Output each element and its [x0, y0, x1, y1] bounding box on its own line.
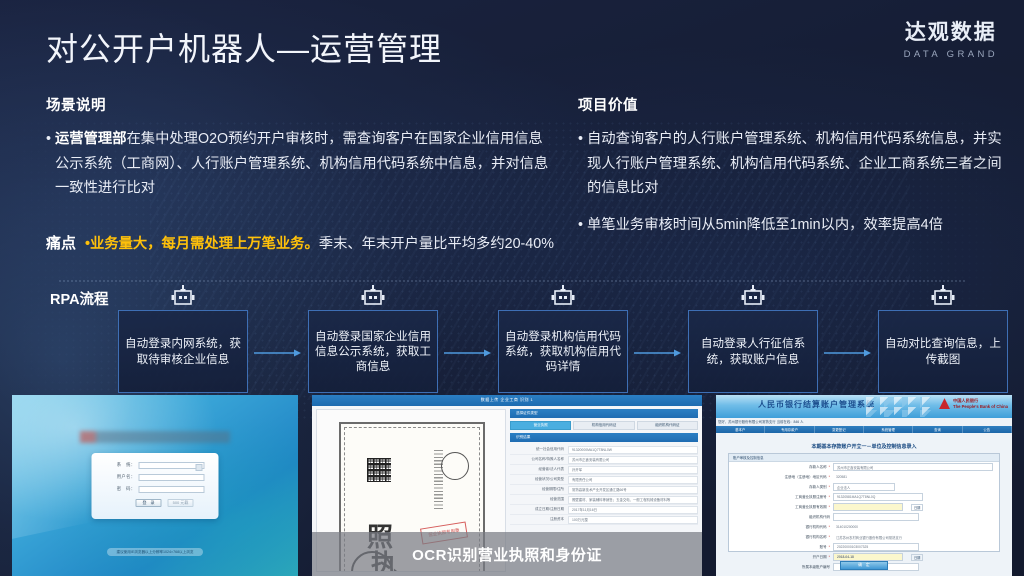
required-marker: * — [829, 485, 830, 489]
pboc-bank-logo: 中国人民银行 The People's Bank of China — [939, 398, 1008, 409]
flow-arrow-4 — [818, 310, 878, 395]
pboc-field-value[interactable] — [833, 503, 903, 511]
scenario-bullet-text: 运营管理部在集中处理O2O预约开户审核时，需查询客户在国家企业信用信息公示系统（… — [55, 127, 554, 201]
value-bullet-2-text: 单笔业务审核时间从5min降低至1min以内，效率提高4倍 — [587, 213, 1010, 238]
ocr-doc-type-header: 选择证件类型 — [510, 409, 698, 418]
login-footer-note: 建议使用IE浏览器以上分辨率1024×768以上浏览 — [107, 548, 203, 556]
pboc-form-panel: 账户审核及控制信息 存款人名称* 苏州市正鑫安装有限公司 注册地（注册地）地区代… — [728, 453, 1000, 552]
ocr-field-row[interactable]: 经营范围 照壁建材、家装辅料等销售；五金交电、一般工程机械设备材料等 — [510, 495, 698, 505]
scenario-heading: 场景说明 — [46, 94, 554, 115]
screenshot-strip: 系 统： 用户名： 密 码： 登 录 500 元载 建议使用IE浏览器以上分辨率… — [0, 395, 1024, 576]
ocr-field-row[interactable]: 注册资本 100万元整 — [510, 515, 698, 525]
ocr-field-value[interactable]: 91320000MA1Q7T8NL0W — [568, 446, 698, 454]
required-marker: * — [829, 525, 830, 529]
required-marker: * — [829, 465, 830, 469]
pboc-date-picker-button[interactable]: 日期 — [911, 504, 923, 511]
scenario-bullet-strong: 运营管理部 — [55, 131, 126, 147]
flow-node-1-label: 自动登录内网系统，获取待审核企业信息 — [125, 336, 241, 367]
flow-node-2-label: 自动登录国家企业信用信息公示系统，获取工商信息 — [315, 329, 431, 375]
ocr-field-row[interactable]: 统一社会信用代码 91320000MA1Q7T8NL0W — [510, 445, 698, 455]
login-button-group: 登 录 500 元载 — [136, 499, 194, 507]
ocr-field-label: 成立日期/注册日期 — [510, 507, 568, 512]
robot-icon — [360, 285, 386, 312]
login-card: 系 统： 用户名： 密 码： 登 录 500 元载 — [92, 453, 219, 519]
login-field-password[interactable]: 密 码： — [106, 485, 205, 493]
pboc-nav-item-query[interactable]: 查询 — [913, 426, 962, 433]
pboc-submit-button[interactable]: 确 定 — [840, 561, 888, 570]
pboc-field-value: 314010200000 — [833, 523, 993, 531]
ocr-tab-org-code[interactable]: 组织机构代码证 — [637, 421, 698, 430]
flow-node-3-box[interactable]: 自动登录机构信用代码系统，获取机构信用代码详情 — [498, 310, 628, 393]
pboc-field-value[interactable] — [833, 513, 919, 521]
ocr-top-bar-label: 数据上传 企业工商 识别 1 — [481, 397, 534, 403]
ocr-field-value[interactable]: 苏州市正鑫安装有限公司 — [568, 456, 698, 464]
login-field-password-input[interactable] — [139, 486, 205, 493]
login-field-password-label: 密 码： — [106, 486, 139, 492]
pboc-date-picker-button[interactable]: 日期 — [911, 554, 923, 561]
flow-arrow-3 — [628, 310, 688, 395]
login-system-logo — [80, 431, 230, 443]
pboc-panel-header: 账户审核及控制信息 — [729, 454, 999, 462]
pboc-field-label: 工商营业执照注册号* — [729, 495, 833, 500]
ocr-field-label: 经营状况/公司类型 — [510, 477, 568, 482]
pboc-field-value[interactable]: 91320581MA1Q7T8NL0Q — [833, 493, 923, 501]
pboc-system-title: 人民币银行结算账户管理系统 — [758, 399, 875, 410]
pain-point-highlight: 业务量大，每月需处理上万笔业务。 — [90, 236, 319, 252]
ocr-field-row[interactable]: 经营者/法人代表 孙开军 — [510, 465, 698, 475]
required-marker: * — [829, 495, 830, 499]
pain-point-label: 痛点 — [46, 232, 76, 256]
screenshot-pboc-system[interactable]: 人民币银行结算账户管理系统 中国人民银行 The People's Bank o… — [716, 395, 1012, 576]
login-field-username[interactable]: 用户名： — [106, 473, 205, 481]
ocr-caption-text: OCR识别营业执照和身份证 — [412, 544, 602, 565]
scenario-bullet: • 运营管理部在集中处理O2O预约开户审核时，需查询客户在国家企业信用信息公示系… — [46, 127, 554, 201]
value-section: 项目价值 • 自动查询客户的人行账户管理系统、机构信用代码系统信息，并实现人行账… — [578, 94, 1010, 237]
ocr-field-value[interactable]: 2017年11月16日 — [568, 506, 698, 514]
flow-node-2[interactable]: 自动登录国家企业信用信息公示系统，获取工商信息 — [308, 310, 438, 395]
pain-point-text: •业务量大，每月需处理上万笔业务。季末、年末开户量比平均多约20-40% — [85, 232, 554, 256]
brand-logo-en: DATA GRAND — [904, 49, 998, 60]
pboc-field-value: 320581 — [833, 473, 993, 481]
dotted-divider — [58, 280, 966, 282]
robot-icon — [740, 285, 766, 312]
login-field-system-label: 系 统： — [106, 462, 139, 468]
pboc-field-label: 银行机构名称* — [729, 535, 833, 540]
required-marker: * — [829, 535, 830, 539]
pboc-nav-item-special[interactable]: 专用存款户 — [765, 426, 814, 433]
pboc-bank-logo-en: The People's Bank of China — [953, 404, 1008, 410]
pboc-field-label: 存款人名称* — [729, 465, 833, 470]
ocr-field-label: 经营者/法人代表 — [510, 467, 568, 472]
ocr-field-value[interactable]: 100万元整 — [568, 516, 698, 524]
brand-logo-cn: 达观数据 — [904, 16, 998, 46]
pboc-field-row[interactable]: 存款人名称* 苏州市正鑫安装有限公司 — [729, 462, 999, 472]
pboc-breadcrumb: 您好，苏州银行股份有限公司常熟支行 当前在线：846 人 — [718, 419, 804, 424]
flow-node-4-label: 自动登录人行征信系统，获取账户信息 — [695, 336, 811, 367]
ocr-field-label: 公司名称/特殊人名称 — [510, 457, 568, 462]
pboc-field-label: 银行机构代码* — [729, 525, 833, 530]
pboc-nav-item-system[interactable]: 系统管理 — [864, 426, 913, 433]
pboc-field-row[interactable]: 银行机构代码* 314010200000 — [729, 522, 999, 532]
ocr-field-row[interactable]: 公司名称/特殊人名称 苏州市正鑫安装有限公司 — [510, 455, 698, 465]
pboc-field-row[interactable]: 工商营业执照有效期* 日期 — [729, 502, 999, 512]
login-secondary-button[interactable]: 500 元载 — [168, 499, 194, 507]
ocr-tab-org-credit-code[interactable]: 机构信用代码证 — [573, 421, 634, 430]
ocr-doc-type-tabs: 营业执照 机构信用代码证 组织机构代码证 — [510, 421, 698, 430]
bullet-marker: • — [46, 127, 51, 201]
pboc-field-row[interactable]: 银行机构名称* 江苏苏州农村商业银行股份有限公司常熟支行 — [729, 532, 999, 542]
required-marker: * — [829, 475, 830, 479]
ocr-tab-business-license[interactable]: 营业执照 — [510, 421, 571, 430]
pboc-field-row[interactable]: 注册地（注册地）地区代码* 320581 — [729, 472, 999, 482]
pboc-field-label: 账号* — [729, 545, 833, 550]
flow-arrow-1 — [248, 310, 308, 395]
flow-node-2-box[interactable]: 自动登录国家企业信用信息公示系统，获取工商信息 — [308, 310, 438, 393]
pboc-bank-logo-text: 中国人民银行 The People's Bank of China — [953, 398, 1008, 409]
pboc-field-value: 江苏苏州农村商业银行股份有限公司常熟支行 — [833, 533, 993, 541]
pboc-field-row[interactable]: 工商营业执照注册号* 91320581MA1Q7T8NL0Q — [729, 492, 999, 502]
pboc-header: 人民币银行结算账户管理系统 中国人民银行 The People's Bank o… — [716, 395, 1012, 418]
flow-node-4[interactable]: 自动登录人行征信系统，获取账户信息 — [688, 310, 818, 395]
ocr-field-row[interactable]: 经营期限/住所 常熟高新技术产业开发区通江路66号 — [510, 485, 698, 495]
pboc-nav-bar: 基本户 专用存款户 变更登记 系统管理 查询 公告 — [716, 426, 1012, 433]
login-submit-button[interactable]: 登 录 — [136, 499, 162, 507]
ocr-top-bar: 数据上传 企业工商 识别 1 — [312, 395, 702, 406]
pain-point-section: 痛点 •业务量大，每月需处理上万笔业务。季末、年末开户量比平均多约20-40% — [46, 232, 566, 256]
ocr-result-header-label: 识别结果 — [516, 435, 530, 440]
flow-node-1[interactable]: 自动登录内网系统，获取待审核企业信息 — [118, 310, 248, 395]
flow-arrow-2 — [438, 310, 498, 395]
ocr-field-value[interactable]: 常熟高新技术产业开发区通江路66号 — [568, 486, 698, 494]
ocr-result-header: 识别结果 — [510, 433, 698, 442]
flow-node-3-label: 自动登录机构信用代码系统，获取机构信用代码详情 — [505, 329, 621, 375]
login-field-username-input[interactable] — [139, 474, 205, 481]
ocr-field-value[interactable]: 孙开军 — [568, 466, 698, 474]
required-marker: * — [829, 555, 830, 559]
pboc-form-title: 本期基本存款账户开立一－单位及控制信息录入 — [716, 443, 1012, 450]
pboc-nav-item-notice[interactable]: 公告 — [963, 426, 1012, 433]
pboc-field-row[interactable]: 账号* 20220000103007325 — [729, 542, 999, 552]
pboc-emblem-icon — [939, 398, 950, 409]
value-bullet-1-text: 自动查询客户的人行账户管理系统、机构信用代码系统信息，并实现人行账户管理系统、机… — [587, 127, 1010, 201]
pboc-nav-item-change[interactable]: 变更登记 — [815, 426, 864, 433]
license-round-emblem — [441, 452, 469, 480]
ocr-field-label: 统一社会信用代码 — [510, 447, 568, 452]
bullet-marker: • — [578, 127, 583, 201]
screenshot-ocr-license[interactable]: 数据上传 企业工商 识别 1 照 执 营业执照专用章 选择证件类型 营业执照 机… — [312, 395, 702, 576]
page-title: 对公开户机器人—运营管理 — [46, 24, 442, 70]
ocr-field-value[interactable]: 有限责任公司 — [568, 476, 698, 484]
pboc-field-value[interactable]: 苏州市正鑫安装有限公司 — [833, 463, 993, 471]
screenshot-intranet-login[interactable]: 系 统： 用户名： 密 码： 登 录 500 元载 建议使用IE浏览器以上分辨率… — [12, 395, 298, 576]
ocr-field-label: 经营范围 — [510, 497, 568, 502]
ocr-field-row[interactable]: 经营状况/公司类型 有限责任公司 — [510, 475, 698, 485]
brand-logo: 达观数据 DATA GRAND — [904, 16, 998, 60]
scenario-section: 场景说明 • 运营管理部在集中处理O2O预约开户审核时，需查询客户在国家企业信用… — [46, 94, 554, 201]
value-heading: 项目价值 — [578, 94, 1010, 115]
flow-node-5[interactable]: 自动对比查询信息，上传截图 — [878, 310, 1008, 395]
ocr-field-label: 经营期限/住所 — [510, 487, 568, 492]
pboc-field-label: 工商营业执照有效期* — [729, 505, 833, 510]
ocr-field-label: 注册资本 — [510, 517, 568, 522]
login-field-system-select[interactable] — [139, 462, 205, 469]
value-bullet-1: • 自动查询客户的人行账户管理系统、机构信用代码系统信息，并实现人行账户管理系统… — [578, 127, 1010, 201]
pboc-field-row[interactable]: 存款人类别* 企业法人 — [729, 482, 999, 492]
pboc-field-label: 所属本级账户编号 — [729, 565, 833, 570]
keyboard-graphic — [866, 397, 936, 417]
ocr-doc-type-header-label: 选择证件类型 — [516, 411, 538, 416]
pboc-field-label: 注册地（注册地）地区代码* — [729, 475, 833, 480]
flow-node-5-box[interactable]: 自动对比查询信息，上传截图 — [878, 310, 1008, 393]
pboc-field-label: 组织机构代码 — [729, 515, 833, 520]
pboc-field-row[interactable]: 组织机构代码 — [729, 512, 999, 522]
flow-node-5-label: 自动对比查询信息，上传截图 — [885, 336, 1001, 367]
scenario-bullet-rest: 在集中处理O2O预约开户审核时，需查询客户在国家企业信用信息公示系统（工商网）、… — [55, 131, 548, 196]
robot-icon — [550, 285, 576, 312]
pboc-field-value[interactable]: 2018-04-18 — [833, 553, 903, 561]
bullet-marker: • — [578, 213, 583, 238]
pboc-field-label: 存款人类别* — [729, 485, 833, 490]
pain-point-rest: 季末、年末开户量比平均多约20-40% — [319, 236, 554, 252]
rpa-flow-diagram: 自动登录内网系统，获取待审核企业信息 自动登录国家企业信用信息公示系统，获取工商… — [118, 310, 1008, 395]
pboc-nav-item-basic[interactable]: 基本户 — [716, 426, 765, 433]
flow-node-1-box[interactable]: 自动登录内网系统，获取待审核企业信息 — [118, 310, 248, 393]
flow-node-4-box[interactable]: 自动登录人行征信系统，获取账户信息 — [688, 310, 818, 393]
rpa-flow-label: RPA流程 — [50, 288, 109, 309]
pboc-field-value[interactable]: 20220000103007325 — [833, 543, 919, 551]
flow-node-3[interactable]: 自动登录机构信用代码系统，获取机构信用代码详情 — [498, 310, 628, 395]
login-field-system[interactable]: 系 统： — [106, 461, 205, 469]
pboc-field-select[interactable]: 企业法人 — [833, 483, 895, 491]
pboc-field-label: 开户日期* — [729, 555, 833, 560]
ocr-caption-overlay: OCR识别营业执照和身份证 — [312, 532, 702, 576]
robot-icon — [930, 285, 956, 312]
required-marker: * — [829, 545, 830, 549]
required-marker: * — [829, 505, 830, 509]
ocr-field-value[interactable]: 照壁建材、家装辅料等销售；五金交电、一般工程机械设备材料等 — [568, 496, 698, 504]
login-field-username-label: 用户名： — [106, 474, 139, 480]
qr-code-icon — [367, 458, 391, 482]
ocr-field-row[interactable]: 成立日期/注册日期 2017年11月16日 — [510, 505, 698, 515]
robot-icon — [170, 285, 196, 312]
value-bullet-2: • 单笔业务审核时间从5min降低至1min以内，效率提高4倍 — [578, 213, 1010, 238]
